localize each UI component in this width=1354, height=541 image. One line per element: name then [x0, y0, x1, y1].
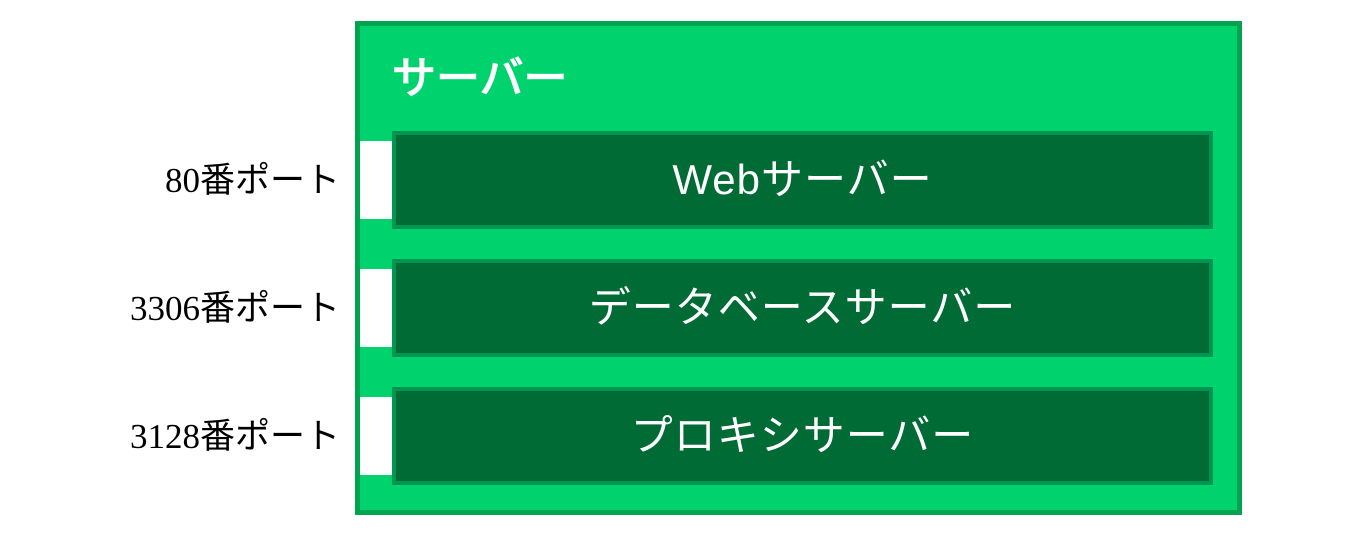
service-box-web: Webサーバー [392, 131, 1213, 229]
service-box-database: データベースサーバー [392, 259, 1213, 357]
service-label-proxy: プロキシサーバー [631, 415, 975, 457]
server-title: サーバー [392, 57, 568, 101]
port-notch-web [360, 141, 392, 219]
port-notch-database [360, 269, 392, 347]
server-container: サーバー Webサーバー データベースサーバー プロキシサーバー [355, 21, 1242, 515]
service-label-database: データベースサーバー [589, 287, 1016, 329]
port-label-group: 80番ポート 3306番ポート 3128番ポート [40, 0, 340, 541]
diagram-canvas: 80番ポート 3306番ポート 3128番ポート サーバー Webサーバー デー… [0, 0, 1354, 541]
port-notch-proxy [360, 397, 392, 475]
service-label-web: Webサーバー [672, 159, 932, 201]
port-label-database: 3306番ポート [40, 291, 340, 326]
port-label-proxy: 3128番ポート [40, 419, 340, 454]
port-label-web: 80番ポート [40, 163, 340, 198]
service-box-proxy: プロキシサーバー [392, 387, 1213, 485]
